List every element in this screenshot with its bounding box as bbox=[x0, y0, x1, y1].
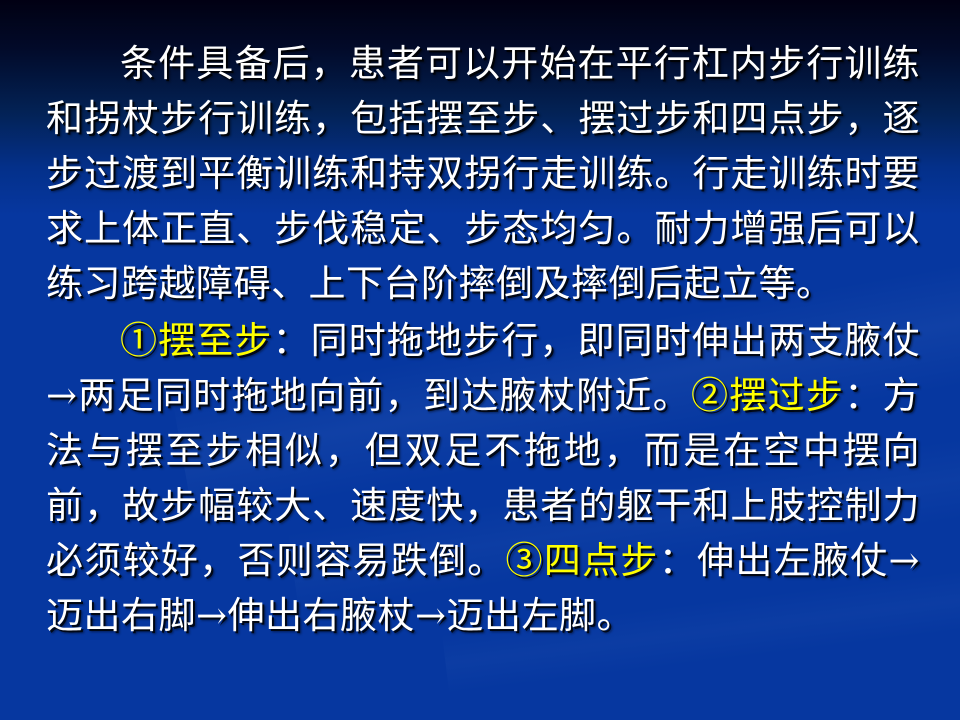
paragraph-1: 条件具备后，患者可以开始在平行杠内步行训练和拐杖步行训练，包括摆至步、摆过步和四… bbox=[46, 36, 920, 311]
highlighted-term: ③四点步 bbox=[506, 539, 659, 582]
slide-body-text: 条件具备后，患者可以开始在平行杠内步行训练和拐杖步行训练，包括摆至步、摆过步和四… bbox=[46, 36, 920, 643]
highlighted-term: ②摆过步 bbox=[691, 374, 844, 417]
highlighted-term: ①摆至步 bbox=[120, 319, 273, 362]
paragraph-2: ①摆至步：同时拖地步行，即同时伸出两支腋仗→两足同时拖地向前，到达腋杖附近。②摆… bbox=[46, 313, 920, 643]
presentation-slide: 条件具备后，患者可以开始在平行杠内步行训练和拐杖步行训练，包括摆至步、摆过步和四… bbox=[0, 0, 960, 720]
text-run: 条件具备后，患者可以开始在平行杠内步行训练和拐杖步行训练，包括摆至步、摆过步和四… bbox=[46, 42, 920, 305]
